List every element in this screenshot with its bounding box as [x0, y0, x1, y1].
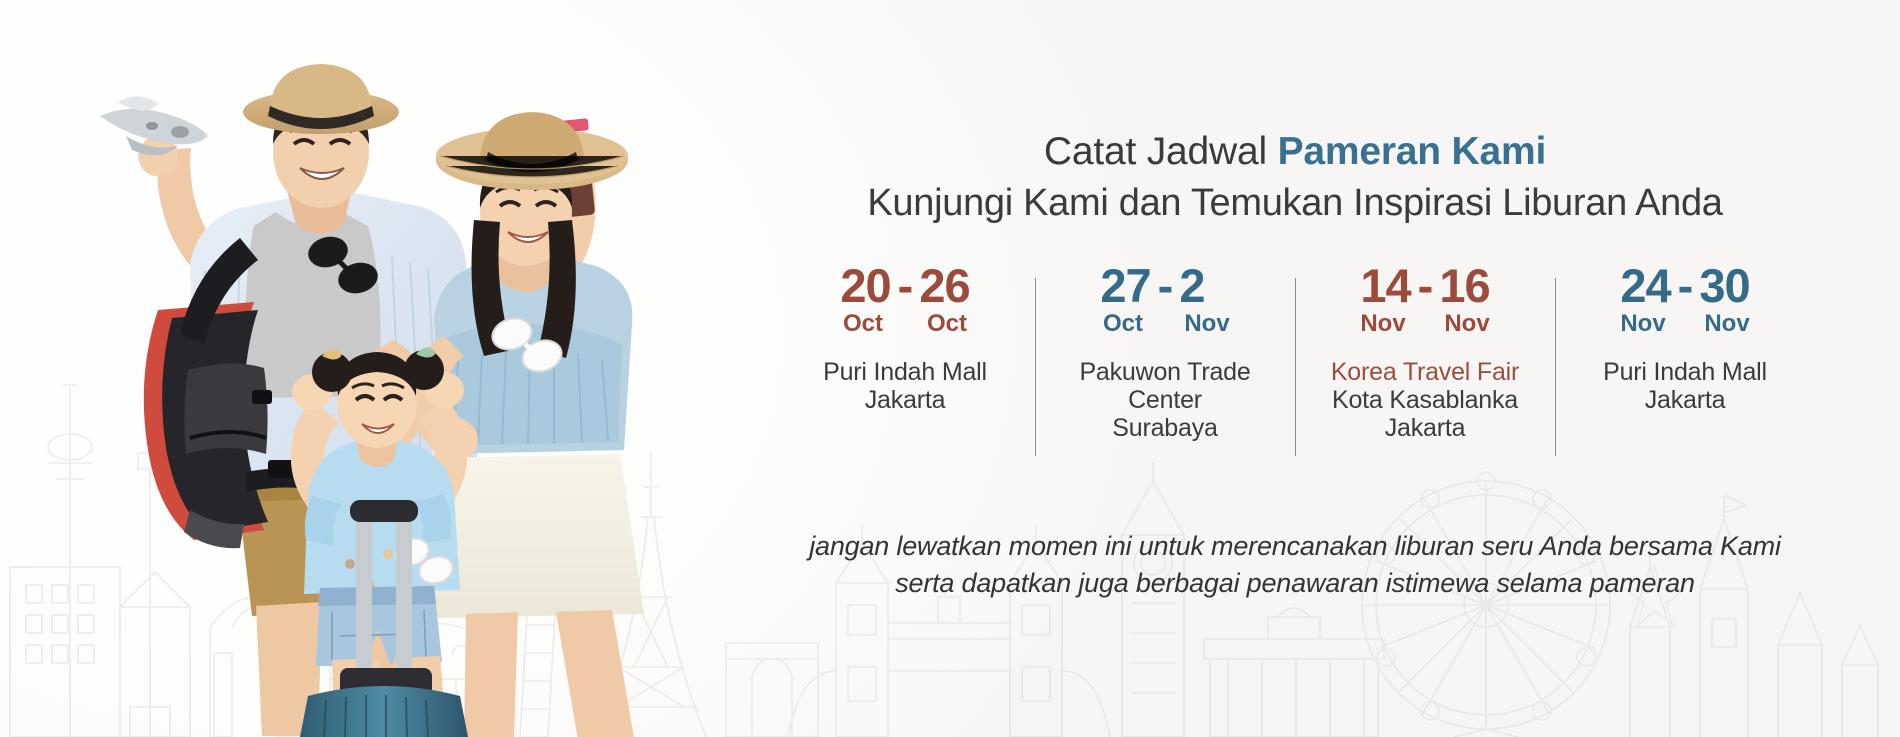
- event-3-months: Nov Nov: [1303, 312, 1547, 336]
- event-2-dash: -: [1155, 262, 1176, 309]
- event-1-day-end: 26: [919, 262, 981, 309]
- event-1-venue: Puri Indah Mall Jakarta: [783, 358, 1027, 414]
- footer-note-line1: jangan lewatkan momen ini untuk merencan…: [690, 528, 1900, 565]
- event-1-months: Oct Oct: [783, 312, 1027, 336]
- event-4-venue-line2: Jakarta: [1645, 386, 1726, 414]
- event-4-venue-line1: Puri Indah Mall: [1603, 358, 1767, 386]
- event-2-month-end: Nov: [1176, 312, 1238, 336]
- event-4-month-end: Nov: [1696, 312, 1758, 336]
- event-4-dash: -: [1675, 262, 1696, 309]
- event-4-venue: Puri Indah Mall Jakarta: [1563, 358, 1807, 414]
- event-1-venue-line1: Puri Indah Mall: [823, 358, 987, 386]
- wide-straw-hat-icon: [436, 112, 628, 190]
- event-1-month-end: Oct: [916, 312, 978, 336]
- event-3-venue-line1: Kota Kasablanka: [1332, 386, 1518, 414]
- event-block-2[interactable]: 27 - 2 Oct Nov Pakuwon Trade Center Sura…: [1035, 262, 1295, 442]
- event-1-month-gap: [898, 312, 912, 336]
- event-2-venue-line1: Pakuwon Trade Center: [1079, 358, 1250, 414]
- event-4-day-end: 30: [1699, 262, 1761, 309]
- footer-note-line2: serta dapatkan juga berbagai penawaran i…: [690, 565, 1900, 602]
- promo-banner: Catat Jadwal Pameran Kami Kunjungi Kami …: [0, 0, 1900, 737]
- event-1-venue-line2: Jakarta: [865, 386, 946, 414]
- event-block-4[interactable]: 24 - 30 Nov Nov Puri Indah Mall Jakarta: [1555, 262, 1815, 414]
- event-1-days: 20 - 26: [783, 262, 1027, 309]
- event-3-days: 14 - 16: [1303, 262, 1547, 309]
- event-3-month-start: Nov: [1352, 312, 1414, 336]
- subheadline: Kunjungi Kami dan Temukan Inspirasi Libu…: [690, 184, 1900, 222]
- event-2-month-gap: [1158, 312, 1172, 336]
- event-2-day-end: 2: [1179, 262, 1241, 309]
- event-3-day-end: 16: [1439, 262, 1501, 309]
- event-2-day-start: 27: [1089, 262, 1151, 309]
- event-3-month-end: Nov: [1436, 312, 1498, 336]
- event-4-month-gap: [1678, 312, 1692, 336]
- event-2-month-start: Oct: [1092, 312, 1154, 336]
- headline-plain: Catat Jadwal: [1044, 130, 1278, 173]
- event-2-days: 27 - 2: [1043, 262, 1287, 309]
- straw-hat-icon: [243, 64, 399, 134]
- event-4-day-start: 24: [1609, 262, 1671, 309]
- event-1-month-start: Oct: [832, 312, 894, 336]
- banner-content: Catat Jadwal Pameran Kami Kunjungi Kami …: [690, 0, 1900, 737]
- headline-strong: Pameran Kami: [1278, 130, 1547, 173]
- event-2-venue-line2: Surabaya: [1112, 414, 1217, 442]
- event-2-venue: Pakuwon Trade Center Surabaya: [1043, 358, 1287, 442]
- event-4-months: Nov Nov: [1563, 312, 1807, 336]
- event-1-day-start: 20: [829, 262, 891, 309]
- event-3-fair-name: Korea Travel Fair: [1303, 358, 1547, 386]
- event-3-venue: Korea Travel Fair Kota Kasablanka Jakart…: [1303, 358, 1547, 442]
- event-4-month-start: Nov: [1612, 312, 1674, 336]
- event-block-1[interactable]: 20 - 26 Oct Oct Puri Indah Mall Jakarta: [775, 262, 1035, 414]
- family-travel-photo: [40, 40, 680, 737]
- event-3-day-start: 14: [1349, 262, 1411, 309]
- headline: Catat Jadwal Pameran Kami: [690, 132, 1900, 171]
- event-3-month-gap: [1418, 312, 1432, 336]
- event-dates-row: 20 - 26 Oct Oct Puri Indah Mall Jakarta …: [690, 262, 1900, 442]
- event-4-days: 24 - 30: [1563, 262, 1807, 309]
- event-2-months: Oct Nov: [1043, 312, 1287, 336]
- event-block-3[interactable]: 14 - 16 Nov Nov Korea Travel Fair Kota K…: [1295, 262, 1555, 442]
- event-3-venue-line2: Jakarta: [1385, 414, 1466, 442]
- event-1-dash: -: [895, 262, 916, 309]
- footer-note: jangan lewatkan momen ini untuk merencan…: [690, 528, 1900, 603]
- event-3-dash: -: [1415, 262, 1436, 309]
